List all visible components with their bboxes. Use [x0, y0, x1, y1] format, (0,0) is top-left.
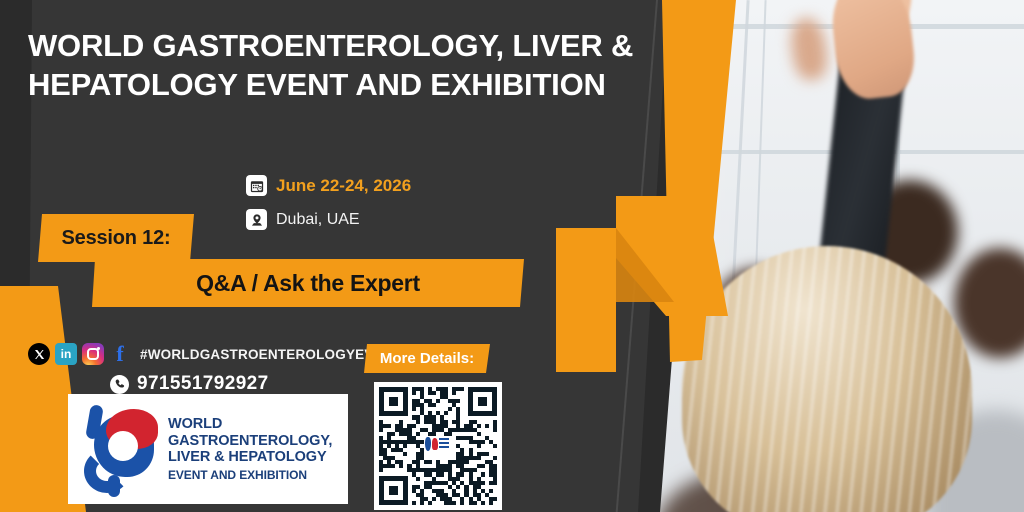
- more-details-button[interactable]: More Details:: [364, 344, 490, 373]
- event-date-row: June 22-24, 2026: [246, 175, 411, 196]
- phone-icon: [110, 375, 129, 394]
- session-title-label: Q&A / Ask the Expert: [196, 270, 420, 297]
- session-title-banner: Q&A / Ask the Expert: [92, 259, 524, 307]
- page-title: WORLD GASTROENTEROLOGY, LIVER & HEPATOLO…: [28, 26, 638, 104]
- qr-code[interactable]: [374, 382, 502, 510]
- event-location: Dubai, UAE: [276, 211, 360, 229]
- linkedin-icon[interactable]: in: [55, 343, 77, 365]
- logo-line-4: EVENT AND EXHIBITION: [168, 468, 332, 482]
- calendar-icon: [246, 175, 267, 196]
- logo-line-1: WORLD: [168, 416, 332, 433]
- event-meta: June 22-24, 2026 Dubai, UAE: [246, 175, 411, 243]
- logo-line-2: GASTROENTEROLOGY,: [168, 433, 332, 450]
- x-twitter-icon[interactable]: [28, 343, 50, 365]
- event-date: June 22-24, 2026: [276, 176, 411, 196]
- logo-line-3: LIVER & HEPATOLOGY: [168, 449, 332, 466]
- stomach-liver-icon: [78, 403, 158, 495]
- event-hashtag: #WORLDGASTROENTEROLOGYEVENT: [140, 347, 401, 362]
- contact-phone-row[interactable]: 971551792927: [110, 373, 269, 395]
- conference-logo: WORLD GASTROENTEROLOGY, LIVER & HEPATOLO…: [68, 394, 348, 504]
- session-number-label: Session 12:: [62, 227, 171, 250]
- facebook-icon[interactable]: f: [109, 343, 131, 365]
- event-location-row: Dubai, UAE: [246, 209, 411, 230]
- location-pin-icon: [246, 209, 267, 230]
- session-number-badge: Session 12:: [38, 214, 194, 262]
- phone-number: 971551792927: [137, 373, 269, 395]
- event-banner: WORLD GASTROENTEROLOGY, LIVER & HEPATOLO…: [0, 0, 1024, 512]
- instagram-icon[interactable]: [82, 343, 104, 365]
- social-links: in f #WORLDGASTROENTEROLOGYEVENT: [28, 343, 401, 365]
- qr-center-logo: [424, 434, 450, 454]
- more-details-label: More Details:: [380, 350, 474, 367]
